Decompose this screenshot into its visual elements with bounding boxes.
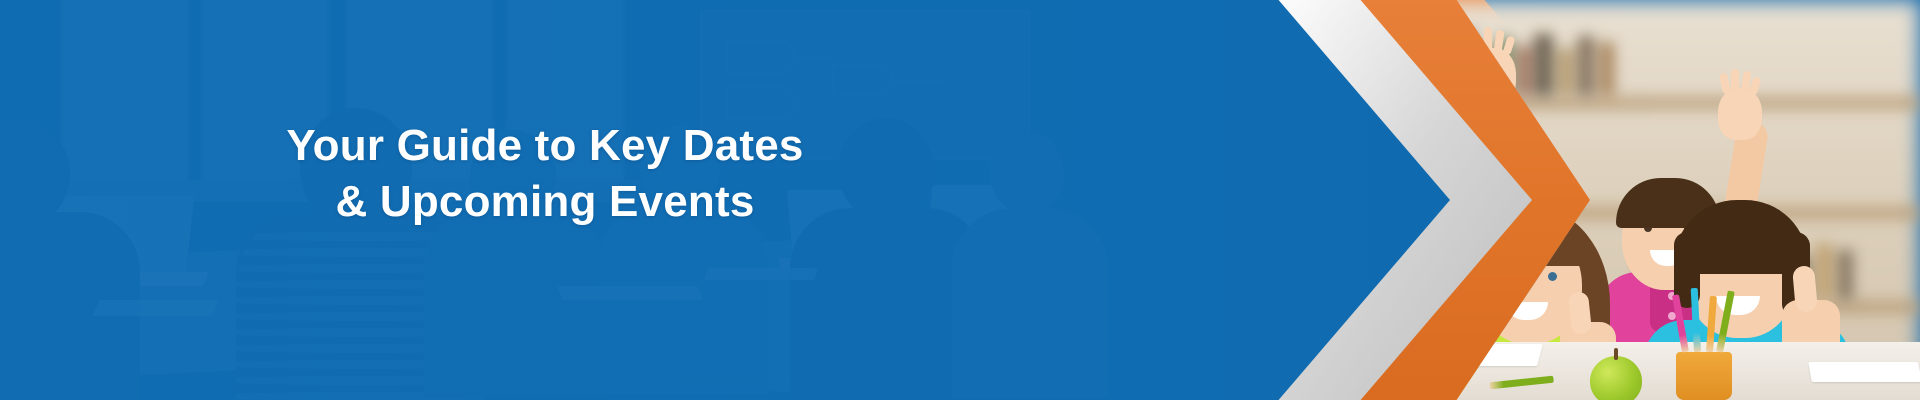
headline-line-2: & Upcoming Events: [0, 174, 1090, 230]
green-apple: [1590, 356, 1642, 400]
eye: [1502, 272, 1511, 281]
background-glow: [1290, 120, 1360, 210]
page-title: Your Guide to Key Dates & Upcoming Event…: [0, 118, 1090, 231]
headline-line-1: Your Guide to Key Dates: [0, 118, 1090, 174]
open-hand: [1718, 88, 1762, 140]
smile: [1408, 240, 1442, 255]
thumb: [1792, 265, 1818, 313]
notebook: [1808, 362, 1920, 382]
pencil-cup: [1676, 352, 1732, 400]
chevron-photo-block: [1120, 0, 1920, 400]
notebook: [1417, 344, 1542, 366]
eye: [1440, 212, 1448, 220]
open-hand: [1470, 48, 1516, 104]
page-banner: Your Guide to Key Dates & Upcoming Event…: [0, 0, 1920, 400]
inner-shirt: [1398, 272, 1450, 400]
open-hand: [1336, 58, 1382, 114]
hair: [1356, 158, 1488, 310]
bookshelf-ledge: [1120, 96, 1920, 110]
photo-clip-frame: [1120, 0, 1920, 400]
hair-fringe: [1472, 218, 1588, 266]
raised-arm-right: [1462, 85, 1516, 278]
bookshelf-ledge: [1120, 206, 1920, 220]
raised-arm-left: [1331, 91, 1388, 282]
apple-stem: [1614, 348, 1618, 360]
face: [1378, 172, 1470, 278]
eye: [1400, 212, 1408, 220]
happy-students-photo: [1120, 0, 1920, 400]
book-row: [1420, 30, 1630, 96]
hair-fringe: [1374, 166, 1474, 210]
eye: [1548, 272, 1557, 281]
